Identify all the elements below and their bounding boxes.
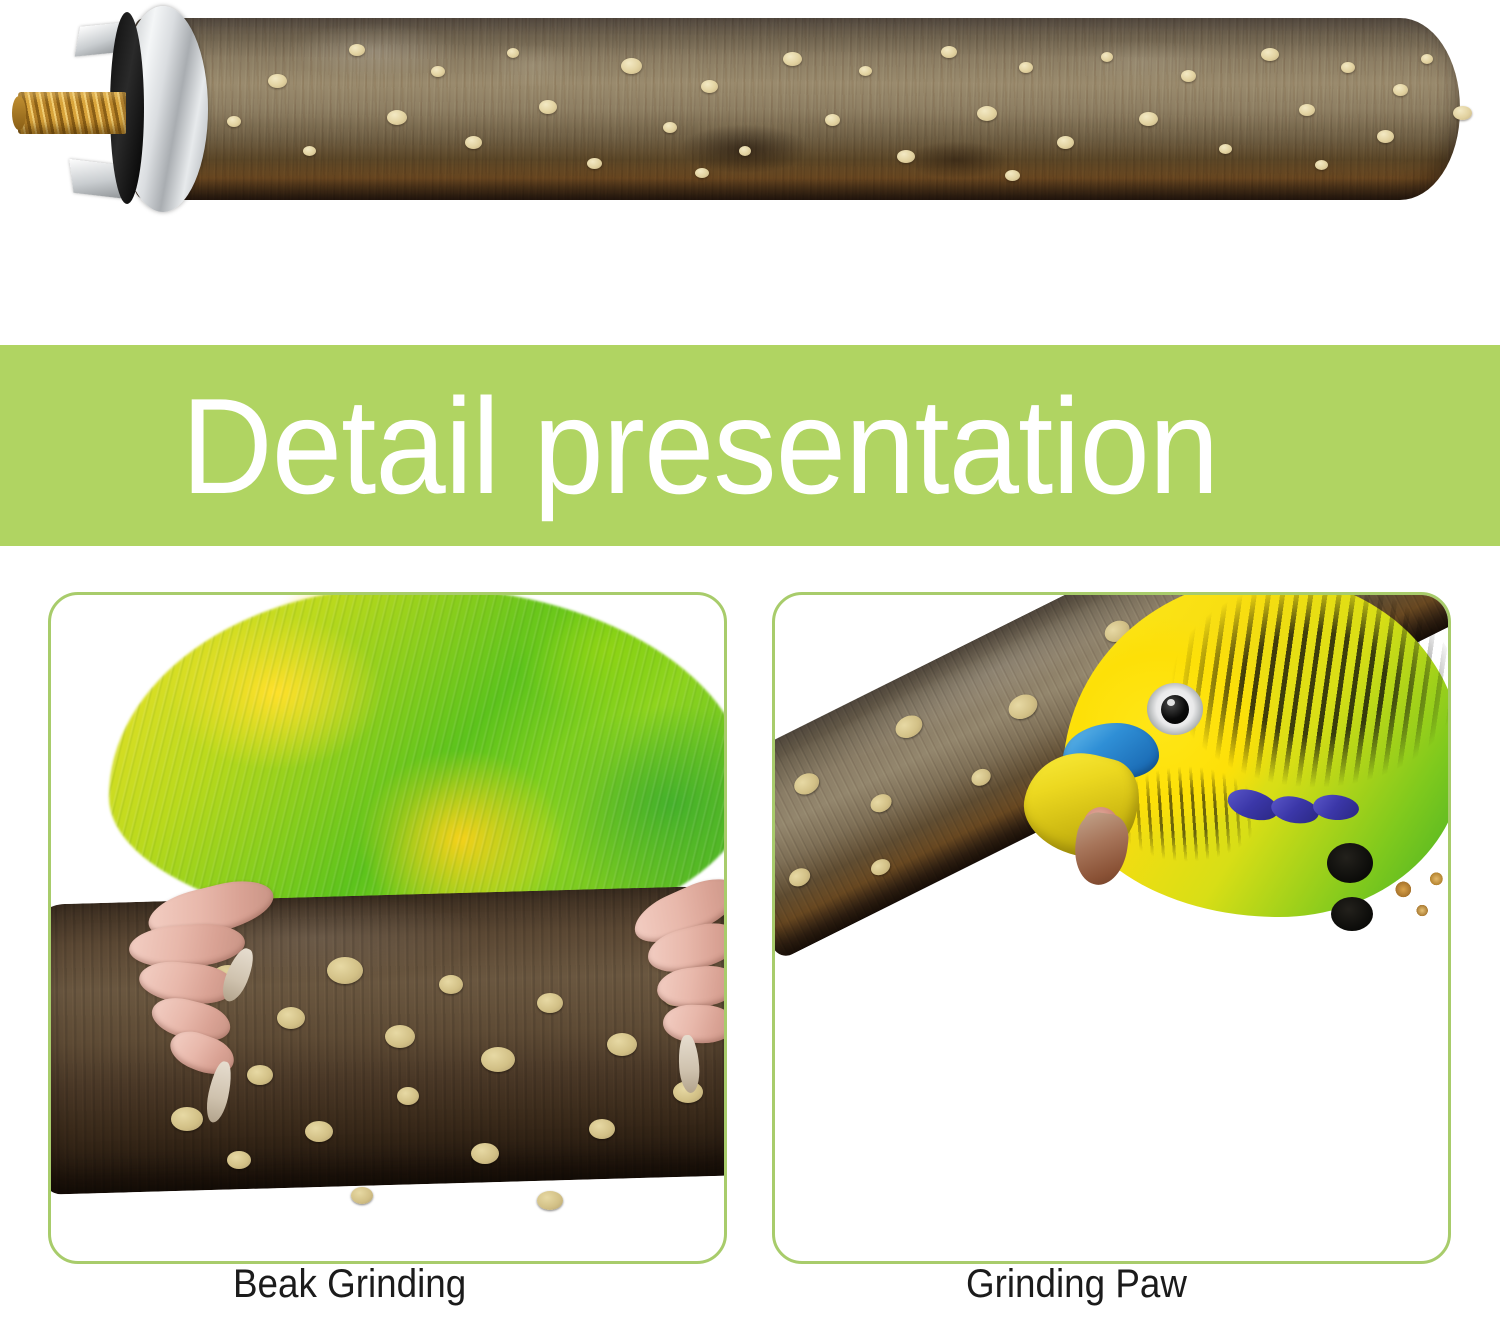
lenticel-spot [1019, 62, 1033, 73]
detail-presentation-banner: Detail presentation [0, 345, 1500, 546]
lenticel-spot [227, 1151, 251, 1169]
lenticel-spot [1261, 48, 1279, 61]
lenticel-spot [1315, 160, 1328, 170]
eye-glint [1167, 699, 1175, 706]
detail-panel-beak-grinding [48, 592, 727, 1264]
lenticel-spot [1181, 70, 1196, 82]
lenticel-spot [385, 1025, 415, 1048]
caption-grinding-paw: Grinding Paw [966, 1262, 1187, 1307]
lenticel-spot [783, 52, 802, 66]
lenticel-spot [349, 44, 365, 56]
lenticel-spot [171, 1107, 203, 1131]
eye-pupil [1161, 695, 1189, 724]
lenticel-spot [351, 1187, 373, 1204]
panel-captions: Beak Grinding Grinding Paw [0, 1262, 1500, 1330]
mounting-hardware [0, 0, 220, 225]
lenticel-spot [825, 114, 840, 126]
lenticel-spot [303, 146, 316, 156]
lenticel-spot [1341, 62, 1355, 73]
lenticel-spot [481, 1047, 515, 1072]
lenticel-spot [431, 66, 445, 77]
lenticel-spot [387, 110, 407, 125]
lenticel-spot [1393, 84, 1408, 96]
wood-branch-perch [135, 18, 1460, 200]
lenticel-spot [589, 1119, 615, 1139]
lenticel-spot [1421, 54, 1433, 64]
bolt-tip [12, 96, 26, 130]
lenticel-spot [897, 150, 915, 163]
detail-panels [0, 592, 1500, 1260]
lenticel-spot [701, 80, 718, 93]
lenticel-spot [587, 158, 602, 169]
lenticel-spot [465, 136, 482, 149]
lenticel-spot [695, 168, 709, 178]
lenticel-spot [268, 74, 287, 88]
lenticel-spot [247, 1065, 273, 1085]
lenticel-spot [1101, 52, 1113, 62]
lenticel-spot [537, 1191, 563, 1210]
lenticel-spot [439, 975, 463, 994]
lenticel-spot [607, 1033, 637, 1056]
lenticel-spot [1453, 106, 1472, 120]
lenticel-spot [941, 46, 957, 58]
brass-threaded-bolt [18, 92, 126, 134]
product-detail-image: Detail presentation [0, 0, 1500, 1330]
lenticel-spot [1377, 130, 1394, 143]
throat-spot [1327, 843, 1373, 883]
caption-beak-grinding: Beak Grinding [233, 1262, 466, 1307]
feather-texture [109, 592, 727, 937]
banner-title: Detail presentation [0, 378, 1218, 514]
lenticel-spot [739, 146, 751, 156]
hero-product-photo [0, 0, 1500, 345]
lenticel-spot [1219, 144, 1232, 154]
lenticel-spot [537, 993, 563, 1013]
lenticel-spot [471, 1143, 499, 1164]
lenticel-spot [539, 100, 557, 114]
lenticel-spot [1139, 112, 1158, 126]
lenticel-spot [507, 48, 519, 58]
lenticel-spot [227, 116, 241, 127]
lenticel-spot [327, 957, 363, 984]
throat-spot [1331, 897, 1373, 931]
detail-panel-grinding-paw [772, 592, 1451, 1264]
lenticel-spot [1057, 136, 1074, 149]
lenticel-spot [663, 122, 677, 133]
lenticel-spot [977, 106, 997, 121]
lenticel-spot [1299, 104, 1315, 116]
lenticel-spot [305, 1121, 333, 1142]
lenticel-spot [859, 66, 872, 76]
lenticel-spot [277, 1007, 305, 1029]
bark-mottling [135, 18, 1460, 200]
lenticel-spot [397, 1087, 419, 1105]
lenticel-spot [1005, 170, 1020, 181]
lenticel-spot [621, 58, 642, 74]
